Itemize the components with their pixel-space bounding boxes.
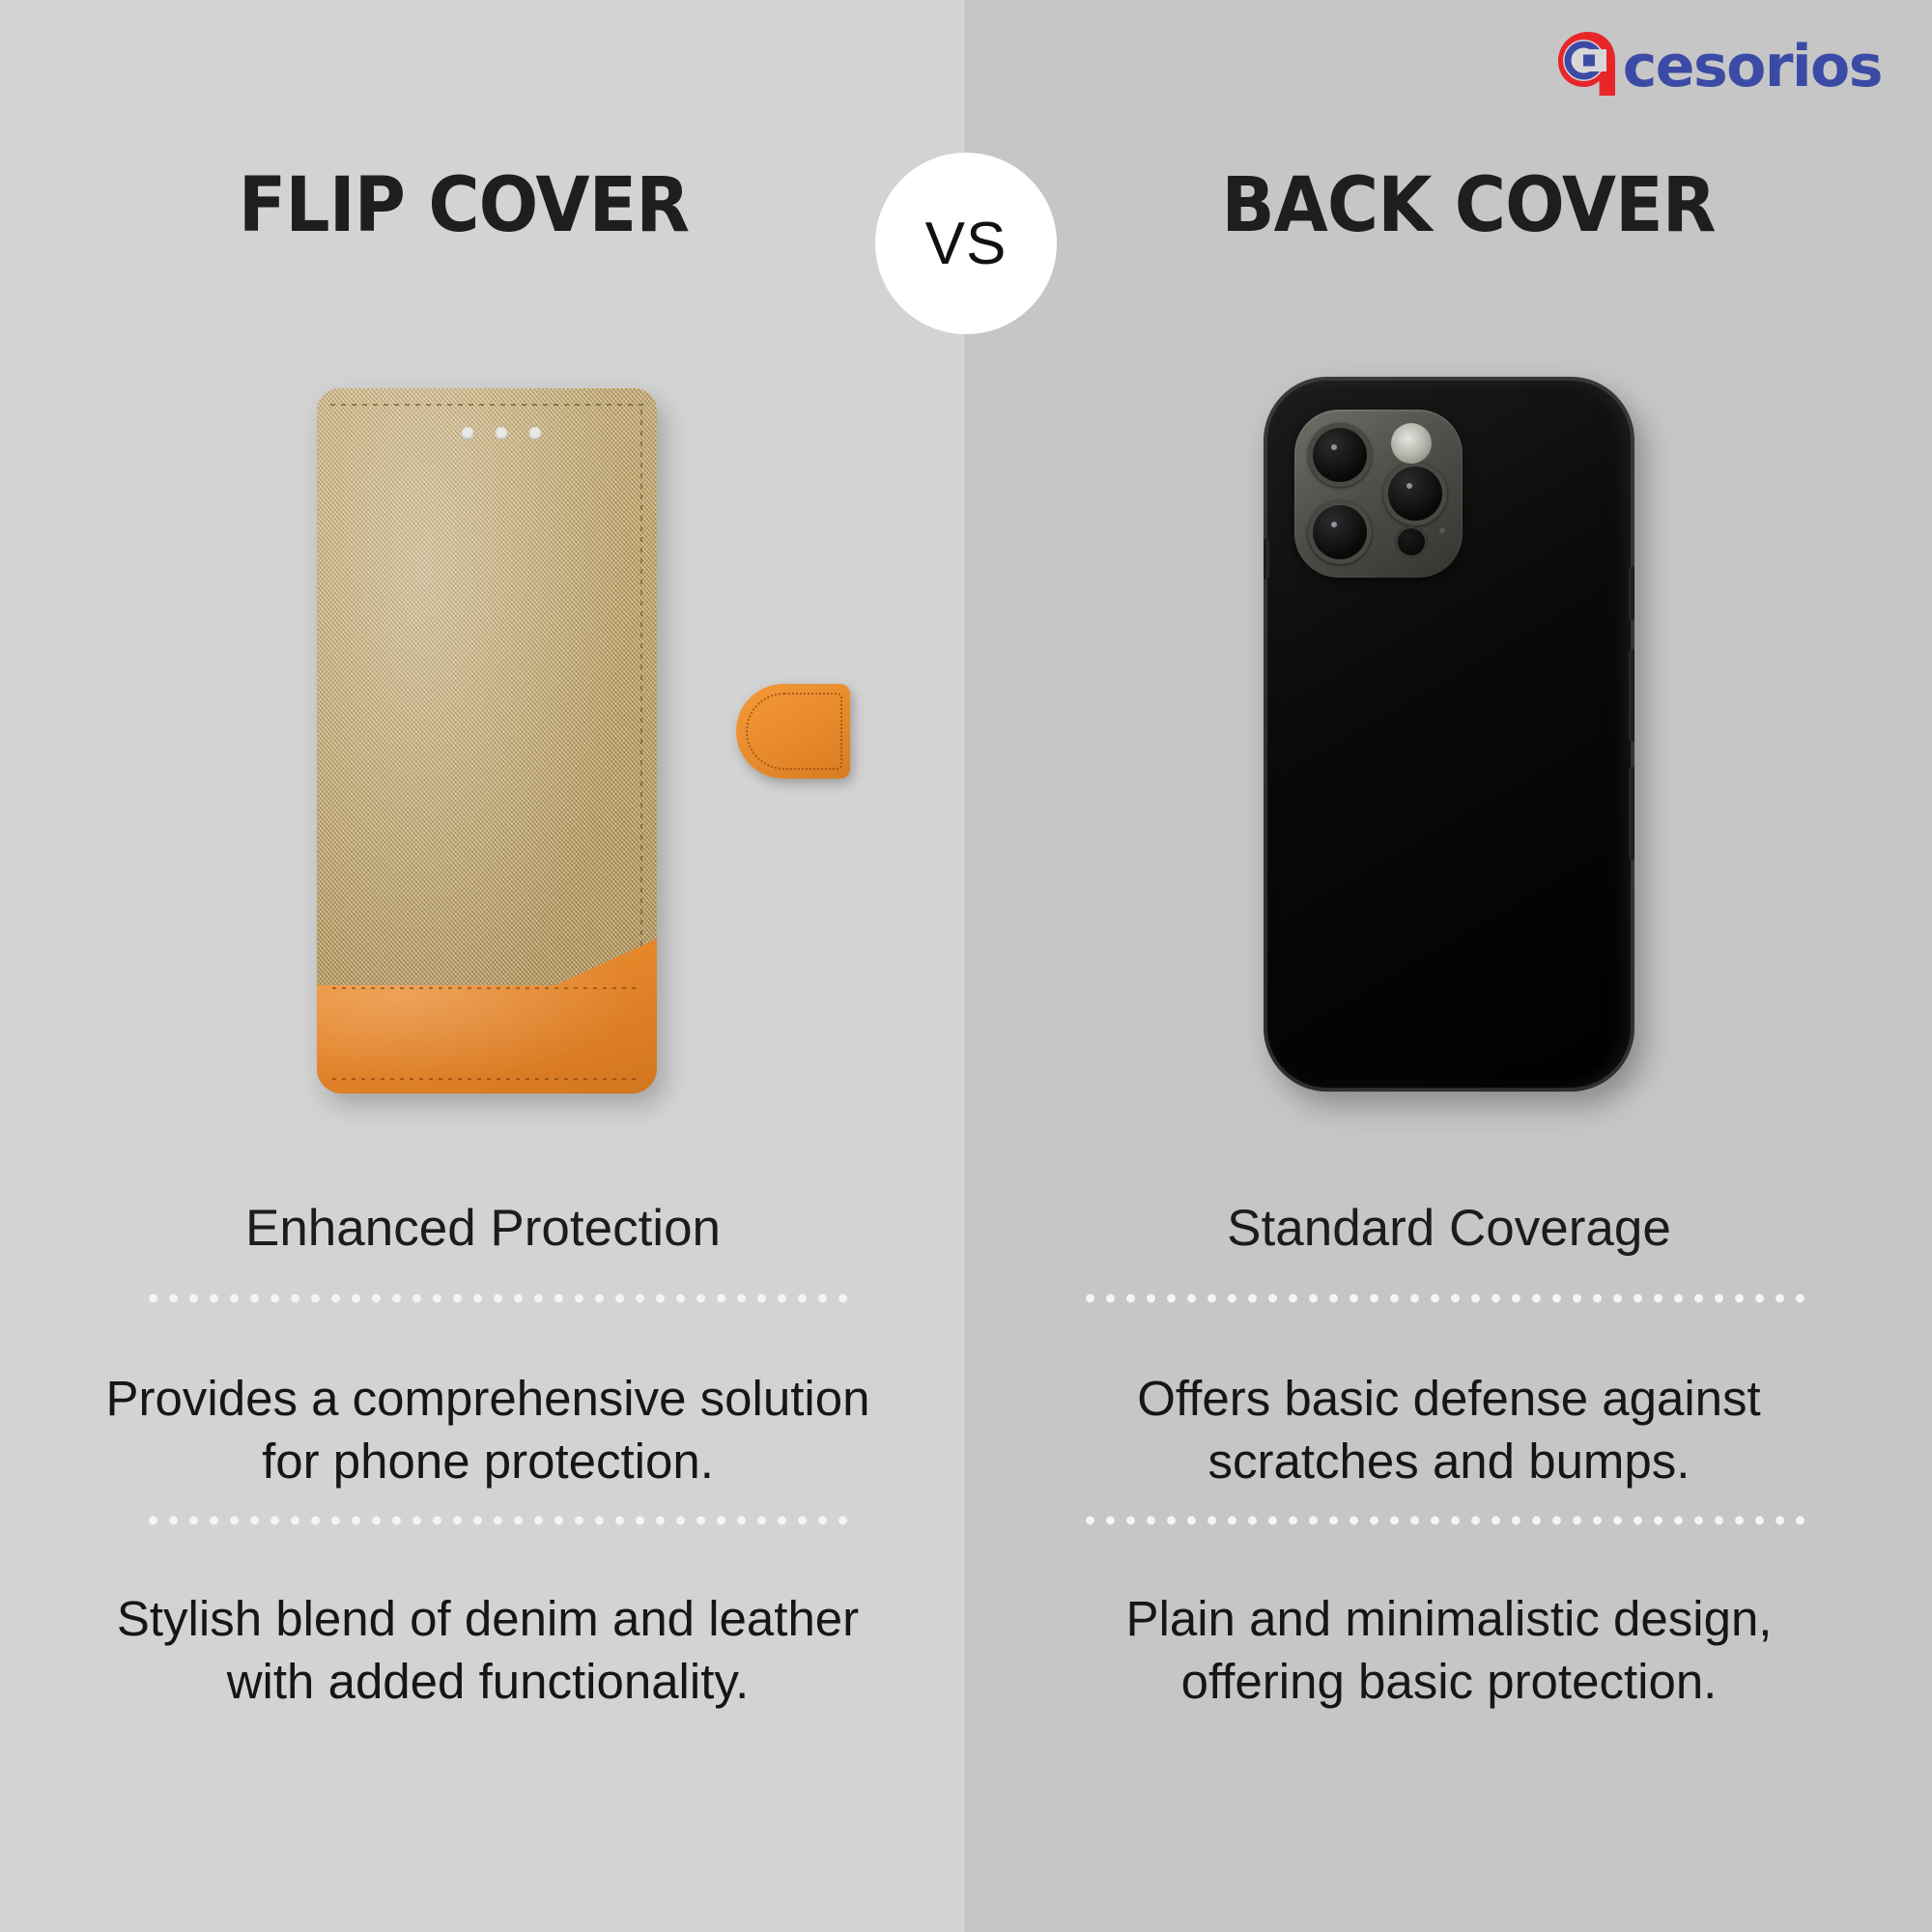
- camera-lens-right: [1383, 462, 1447, 526]
- leather-upper-stitch: [332, 987, 641, 989]
- vs-label: VS: [925, 210, 1008, 278]
- right-stitch-line: [640, 410, 642, 987]
- lidar-sensor-icon: [1395, 526, 1428, 558]
- magnetic-clasp-flap: [736, 684, 850, 779]
- vs-badge: VS: [875, 153, 1057, 334]
- right-column-heading: BACK COVER: [1091, 162, 1845, 249]
- right-product-stage: [1140, 377, 1758, 1111]
- cutout-dot: [495, 427, 507, 440]
- left-product-stage: [174, 377, 792, 1111]
- left-feature-point-1: Provides a comprehensive solution for ph…: [87, 1368, 889, 1493]
- left-column-heading: FLIP COVER: [86, 162, 840, 249]
- camera-flash-icon: [1391, 423, 1432, 464]
- side-button-action: [1629, 566, 1634, 620]
- side-button-volume-up: [1629, 649, 1634, 742]
- right-divider-rule-2: [1080, 1515, 1814, 1526]
- brand-logo: cesorios: [1553, 27, 1882, 100]
- top-stitch-line: [330, 404, 643, 406]
- left-divider-rule-2: [143, 1515, 858, 1526]
- mute-switch: [1264, 539, 1269, 580]
- right-feature-point-1: Offers basic defense against scratches a…: [1043, 1368, 1855, 1493]
- flip-cover-product-icon: [317, 388, 657, 1094]
- cutout-dot: [461, 427, 473, 440]
- left-subtitle: Enhanced Protection: [58, 1198, 908, 1260]
- lens-glint: [1331, 444, 1337, 450]
- right-feature-point-2: Plain and minimalistic design, offering …: [1043, 1588, 1855, 1714]
- left-divider-rule-1: [143, 1293, 858, 1304]
- back-cover-product-icon: [1264, 377, 1634, 1092]
- cutout-dot: [528, 427, 541, 440]
- camera-lens-bottom-left: [1308, 500, 1372, 564]
- left-feature-point-2: Stylish blend of denim and leather with …: [87, 1588, 889, 1714]
- camera-cutout-dots: [461, 427, 541, 440]
- brand-name: cesorios: [1623, 38, 1882, 96]
- right-subtitle: Standard Coverage: [1024, 1198, 1874, 1260]
- side-button-volume-down: [1629, 767, 1634, 860]
- comparison-infographic: cesorios FLIP COVER BACK COVER VS: [0, 0, 1932, 1932]
- camera-lens-top-left: [1308, 423, 1372, 487]
- microphone-dot-icon: [1439, 527, 1445, 533]
- camera-module: [1294, 410, 1463, 578]
- lens-glint: [1406, 483, 1412, 489]
- right-divider-rule-1: [1080, 1293, 1814, 1304]
- acesorios-mark-icon: [1553, 28, 1625, 99]
- leather-lower-stitch: [332, 1078, 641, 1080]
- lens-glint: [1331, 522, 1337, 527]
